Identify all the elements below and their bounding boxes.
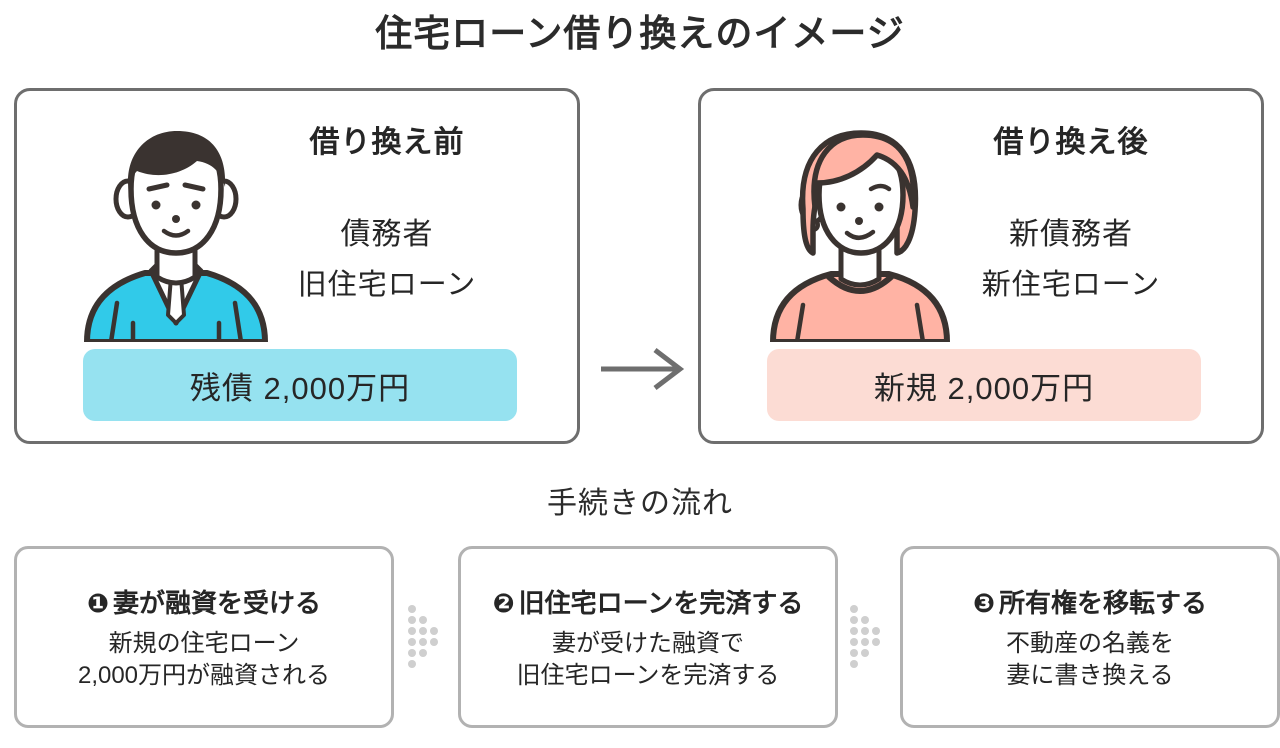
after-loan: 新住宅ローン bbox=[881, 261, 1261, 303]
after-amount-badge: 新規 2,000万円 bbox=[767, 349, 1201, 421]
step-3-line-1: 不動産の名義を bbox=[1006, 628, 1174, 660]
step-3-number: ❸ bbox=[973, 588, 995, 618]
before-loan: 旧住宅ローン bbox=[197, 261, 577, 303]
page-title: 住宅ローン借り換えのイメージ bbox=[0, 12, 1280, 56]
step-3-line-2: 妻に書き換える bbox=[1006, 660, 1173, 692]
step-2-heading: ❷旧住宅ローンを完済する bbox=[493, 583, 804, 620]
step-card-2: ❷旧住宅ローンを完済する 妻が受けた融資で 旧住宅ローンを完済する bbox=[458, 546, 838, 728]
before-heading: 借り換え前 bbox=[197, 117, 577, 161]
dotted-arrow-icon-2 bbox=[848, 602, 888, 672]
step-3-title: 所有権を移転する bbox=[999, 588, 1207, 618]
flow-steps-section: ❶妻が融資を受ける 新規の住宅ローン 2,000万円が融資される ❷旧住宅ローン… bbox=[0, 546, 1280, 732]
after-role: 新債務者 bbox=[881, 209, 1261, 253]
step-card-1: ❶妻が融資を受ける 新規の住宅ローン 2,000万円が融資される bbox=[14, 546, 394, 728]
step-1-number: ❶ bbox=[87, 588, 109, 618]
step-2-title: 旧住宅ローンを完済する bbox=[519, 588, 804, 618]
before-role: 債務者 bbox=[197, 209, 577, 253]
step-1-heading: ❶妻が融資を受ける bbox=[87, 583, 321, 620]
step-3-heading: ❸所有権を移転する bbox=[973, 583, 1207, 620]
after-card: 借り換え後 新債務者 新住宅ローン 新規 2,000万円 bbox=[698, 88, 1264, 444]
before-amount-badge: 残債 2,000万円 bbox=[83, 349, 517, 421]
step-1-line-1: 新規の住宅ローン bbox=[109, 628, 300, 660]
step-2-number: ❷ bbox=[493, 588, 515, 618]
step-1-title: 妻が融資を受ける bbox=[113, 588, 321, 618]
step-2-line-2: 旧住宅ローンを完済する bbox=[517, 660, 780, 692]
before-card: 借り換え前 債務者 旧住宅ローン 残債 2,000万円 bbox=[14, 88, 580, 444]
step-1-line-2: 2,000万円が融資される bbox=[78, 660, 330, 692]
step-card-3: ❸所有権を移転する 不動産の名義を 妻に書き換える bbox=[900, 546, 1280, 728]
step-2-line-1: 妻が受けた融資で bbox=[552, 628, 744, 660]
flow-title: 手続きの流れ bbox=[0, 478, 1280, 522]
right-arrow-icon bbox=[597, 346, 687, 392]
comparison-section: 借り換え前 債務者 旧住宅ローン 残債 2,000万円 bbox=[0, 88, 1280, 450]
after-heading: 借り換え後 bbox=[881, 117, 1261, 161]
dotted-arrow-icon-1 bbox=[406, 602, 446, 672]
